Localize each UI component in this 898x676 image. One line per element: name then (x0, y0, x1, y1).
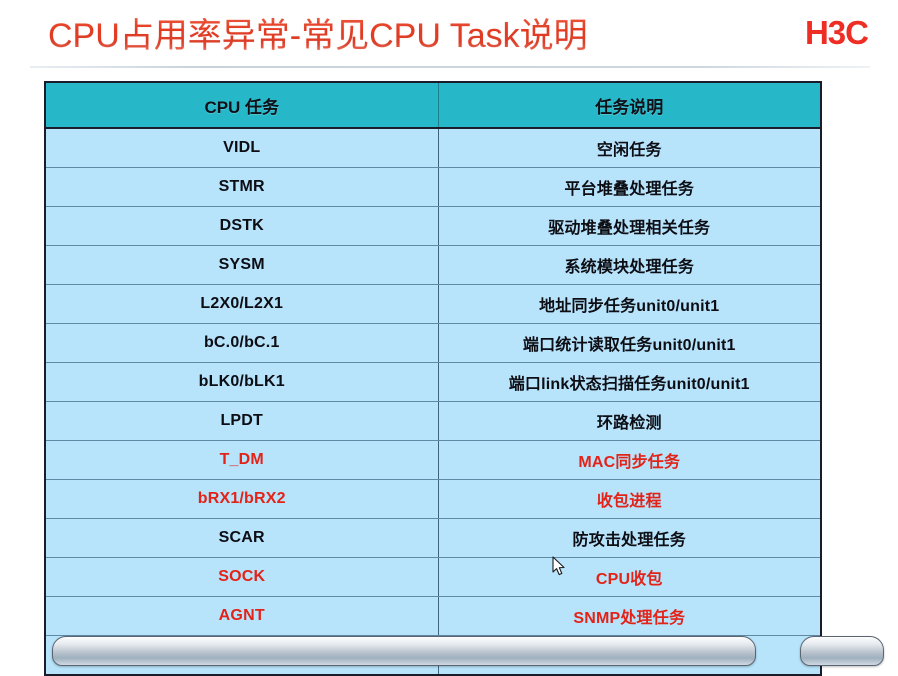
cell-task-description: 空闲任务 (438, 128, 820, 168)
table-row: SOCKCPU收包 (46, 558, 820, 597)
table-row: AGNTSNMP处理任务 (46, 597, 820, 636)
cell-task-description: 收包进程 (438, 480, 820, 519)
table-row: T_DMMAC同步任务 (46, 441, 820, 480)
table-header: CPU 任务 任务说明 (46, 83, 820, 128)
column-header-description: 任务说明 (438, 83, 820, 128)
cell-task-description: 地址同步任务unit0/unit1 (438, 285, 820, 324)
table-row: SYSM系统模块处理任务 (46, 246, 820, 285)
cell-task-description: 端口link状态扫描任务unit0/unit1 (438, 363, 820, 402)
cell-task-description: SNMP处理任务 (438, 597, 820, 636)
cell-task-description: 驱动堆叠处理相关任务 (438, 207, 820, 246)
cell-task-name: STMR (46, 168, 438, 207)
cell-task-description: 系统模块处理任务 (438, 246, 820, 285)
header-divider (30, 66, 870, 68)
cell-task-name: SOCK (46, 558, 438, 597)
table-row: bC.0/bC.1端口统计读取任务unit0/unit1 (46, 324, 820, 363)
cpu-task-table-container: CPU 任务 任务说明 VIDL空闲任务STMR平台堆叠处理任务DSTK驱动堆叠… (44, 81, 822, 676)
cell-task-name: bC.0/bC.1 (46, 324, 438, 363)
cell-task-name: bRX1/bRX2 (46, 480, 438, 519)
cell-task-description: CPU收包 (438, 558, 820, 597)
table-row: SCAR防攻击处理任务 (46, 519, 820, 558)
cell-task-description: 端口统计读取任务unit0/unit1 (438, 324, 820, 363)
cell-task-name: SYSM (46, 246, 438, 285)
column-header-task: CPU 任务 (46, 83, 438, 128)
cell-task-name: VIDL (46, 128, 438, 168)
cell-task-description: MAC同步任务 (438, 441, 820, 480)
table-row: L2X0/L2X1地址同步任务unit0/unit1 (46, 285, 820, 324)
table-header-row: CPU 任务 任务说明 (46, 83, 820, 128)
table-row: STMR平台堆叠处理任务 (46, 168, 820, 207)
h3c-logo: H3C (805, 14, 868, 52)
bottom-bar-shape-small (800, 636, 884, 666)
cell-task-name: T_DM (46, 441, 438, 480)
page-title: CPU占用率异常-常见CPU Task说明 (48, 8, 588, 57)
cell-task-description: 防攻击处理任务 (438, 519, 820, 558)
cell-task-name: L2X0/L2X1 (46, 285, 438, 324)
cell-task-name: AGNT (46, 597, 438, 636)
table-row: VIDL空闲任务 (46, 128, 820, 168)
table-row: LPDT环路检测 (46, 402, 820, 441)
bottom-bar-shape-wide (52, 636, 756, 666)
slide-header: CPU占用率异常-常见CPU Task说明 H3C (0, 0, 898, 72)
table-body: VIDL空闲任务STMR平台堆叠处理任务DSTK驱动堆叠处理相关任务SYSM系统… (46, 128, 820, 674)
cell-task-name: LPDT (46, 402, 438, 441)
cell-task-description: 环路检测 (438, 402, 820, 441)
cell-task-name: bLK0/bLK1 (46, 363, 438, 402)
table-row: DSTK驱动堆叠处理相关任务 (46, 207, 820, 246)
table-row: bLK0/bLK1端口link状态扫描任务unit0/unit1 (46, 363, 820, 402)
table-row: bRX1/bRX2收包进程 (46, 480, 820, 519)
cell-task-name: SCAR (46, 519, 438, 558)
cpu-task-table: CPU 任务 任务说明 VIDL空闲任务STMR平台堆叠处理任务DSTK驱动堆叠… (46, 83, 820, 674)
cell-task-name: DSTK (46, 207, 438, 246)
cell-task-description: 平台堆叠处理任务 (438, 168, 820, 207)
